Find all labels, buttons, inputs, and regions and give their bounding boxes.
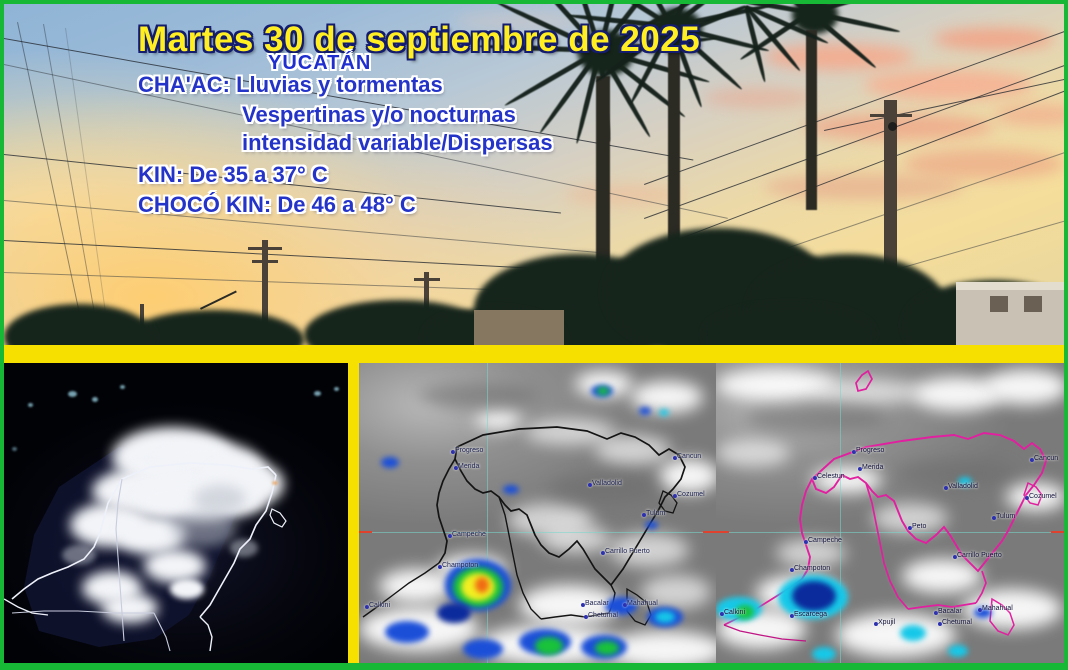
city-label: Champoton <box>794 565 830 572</box>
city-label: Carrillo Puerto <box>605 548 650 555</box>
city-label: Peto <box>912 523 926 530</box>
city-label: Valladolid <box>592 480 622 487</box>
city-label: Mahahual <box>627 600 658 607</box>
city-label: Tulum <box>996 513 1015 520</box>
city-label: Cancun <box>1034 455 1058 462</box>
city-label: Tulum <box>646 510 665 517</box>
city-label: Cancun <box>677 453 701 460</box>
city-label: Merida <box>458 463 479 470</box>
satellite-panel-row: ProgresoMeridaValladolidCancunCozumelTul… <box>4 363 1064 663</box>
city-label: Calkini <box>369 602 390 609</box>
city-label: Cozumel <box>1029 493 1057 500</box>
city-label: Progreso <box>856 447 884 454</box>
coastline-overlay <box>4 363 348 663</box>
city-label: Progreso <box>455 447 483 454</box>
city-label: Merida <box>862 464 883 471</box>
weather-forecast-graphic: Martes 30 de septiembre de 2025 YUCATÁN … <box>0 0 1068 670</box>
city-label: Carrillo Puerto <box>957 552 1002 559</box>
panel-night-satellite <box>4 363 348 663</box>
panel-infrared-boundaries: ProgresoMeridaCelestunValladolidCancunCo… <box>716 363 1064 663</box>
city-label: Calkini <box>724 609 745 616</box>
city-label: Escarcega <box>794 611 827 618</box>
city-label: Xpujil <box>878 619 895 626</box>
city-label: Valladolid <box>948 483 978 490</box>
city-label: Chetumal <box>942 619 972 626</box>
city-label: Bacalar <box>938 608 962 615</box>
sunset-photo-background <box>4 4 1064 345</box>
city-label: Mahahual <box>982 605 1013 612</box>
city-label: Campeche <box>808 537 842 544</box>
city-label: Campeche <box>452 531 486 538</box>
city-label: Champoton <box>442 562 478 569</box>
city-label: Chetumal <box>588 612 618 619</box>
city-label: Cozumel <box>677 491 705 498</box>
city-label: Bacalar <box>585 600 609 607</box>
panel-infrared-radar: ProgresoMeridaValladolidCancunCozumelTul… <box>359 363 716 663</box>
city-label: Celestun <box>817 473 845 480</box>
panel-divider-left <box>348 363 359 663</box>
yellow-divider-bar <box>4 345 1064 363</box>
